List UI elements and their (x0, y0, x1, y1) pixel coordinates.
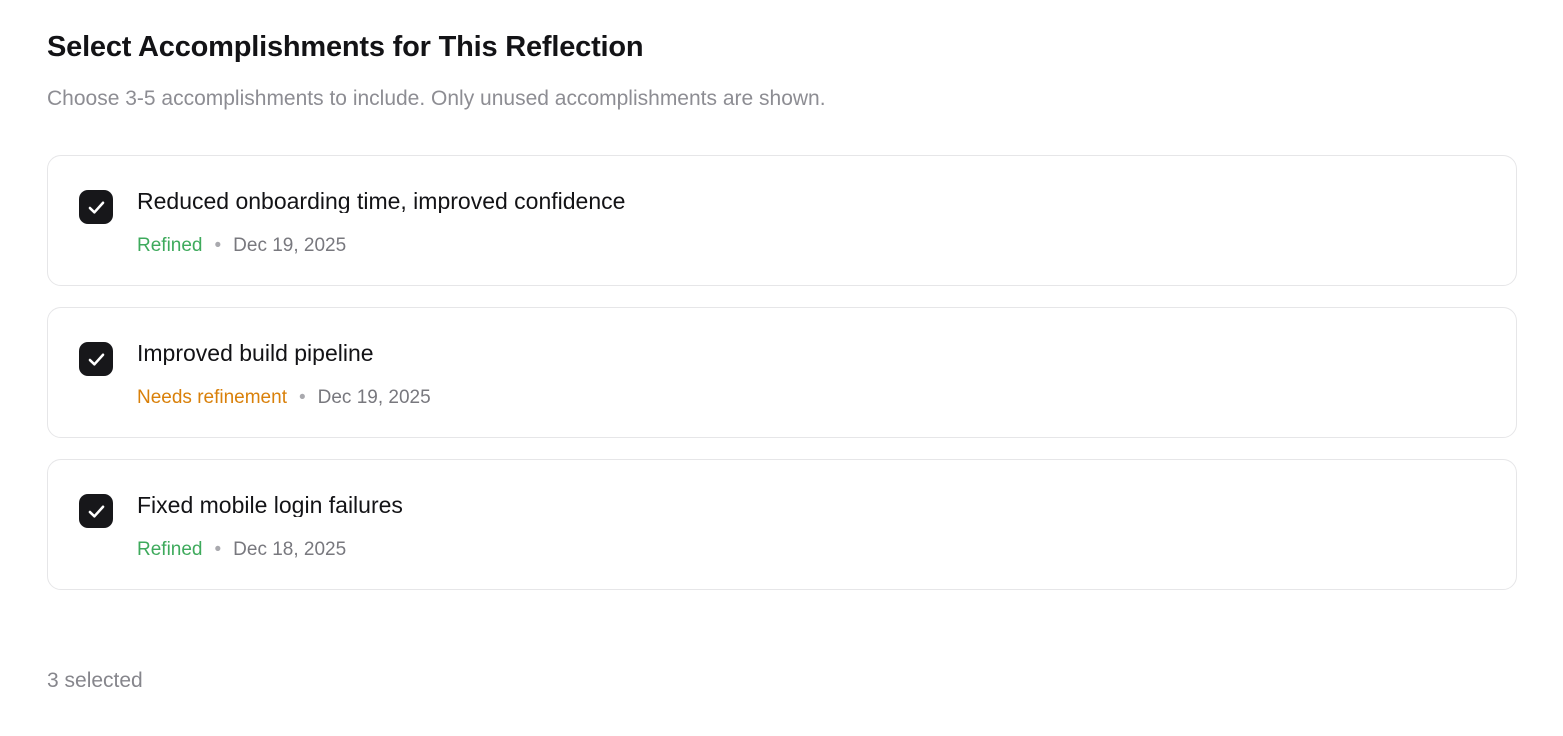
status-badge: Refined (137, 540, 203, 559)
check-icon (86, 197, 107, 218)
check-icon (86, 501, 107, 522)
accomplishment-checkbox[interactable] (79, 190, 113, 224)
page-header: Select Accomplishments for This Reflecti… (47, 33, 1517, 109)
accomplishment-meta: Needs refinement • Dec 19, 2025 (137, 365, 1490, 407)
accomplishment-meta: Refined • Dec 18, 2025 (137, 517, 1490, 559)
accomplishment-meta: Refined • Dec 19, 2025 (137, 213, 1490, 255)
meta-separator-dot: • (203, 236, 234, 255)
accomplishment-date: Dec 18, 2025 (233, 540, 346, 559)
accomplishment-checkbox[interactable] (79, 494, 113, 528)
accomplishment-title: Improved build pipeline (137, 342, 1490, 365)
accomplishment-card[interactable]: Improved build pipeline Needs refinement… (47, 307, 1517, 438)
accomplishment-body: Reduced onboarding time, improved confid… (137, 189, 1490, 255)
selection-footer: 3 selected (47, 670, 143, 692)
page-subtitle: Choose 3-5 accomplishments to include. O… (47, 62, 1517, 109)
accomplishment-date: Dec 19, 2025 (318, 388, 431, 407)
page-title: Select Accomplishments for This Reflecti… (47, 33, 1517, 62)
accomplishment-title: Reduced onboarding time, improved confid… (137, 190, 1490, 213)
check-icon (86, 349, 107, 370)
accomplishment-card[interactable]: Fixed mobile login failures Refined • De… (47, 459, 1517, 590)
accomplishment-title: Fixed mobile login failures (137, 494, 1490, 517)
meta-separator-dot: • (203, 540, 234, 559)
selected-count-label: 3 selected (47, 669, 143, 692)
status-badge: Needs refinement (137, 388, 287, 407)
accomplishment-body: Improved build pipeline Needs refinement… (137, 341, 1490, 407)
accomplishment-list: Reduced onboarding time, improved confid… (47, 155, 1517, 590)
accomplishment-selector-page: Select Accomplishments for This Reflecti… (0, 0, 1563, 736)
meta-separator-dot: • (287, 388, 318, 407)
status-badge: Refined (137, 236, 203, 255)
accomplishment-card[interactable]: Reduced onboarding time, improved confid… (47, 155, 1517, 286)
accomplishment-date: Dec 19, 2025 (233, 236, 346, 255)
accomplishment-body: Fixed mobile login failures Refined • De… (137, 493, 1490, 559)
accomplishment-checkbox[interactable] (79, 342, 113, 376)
